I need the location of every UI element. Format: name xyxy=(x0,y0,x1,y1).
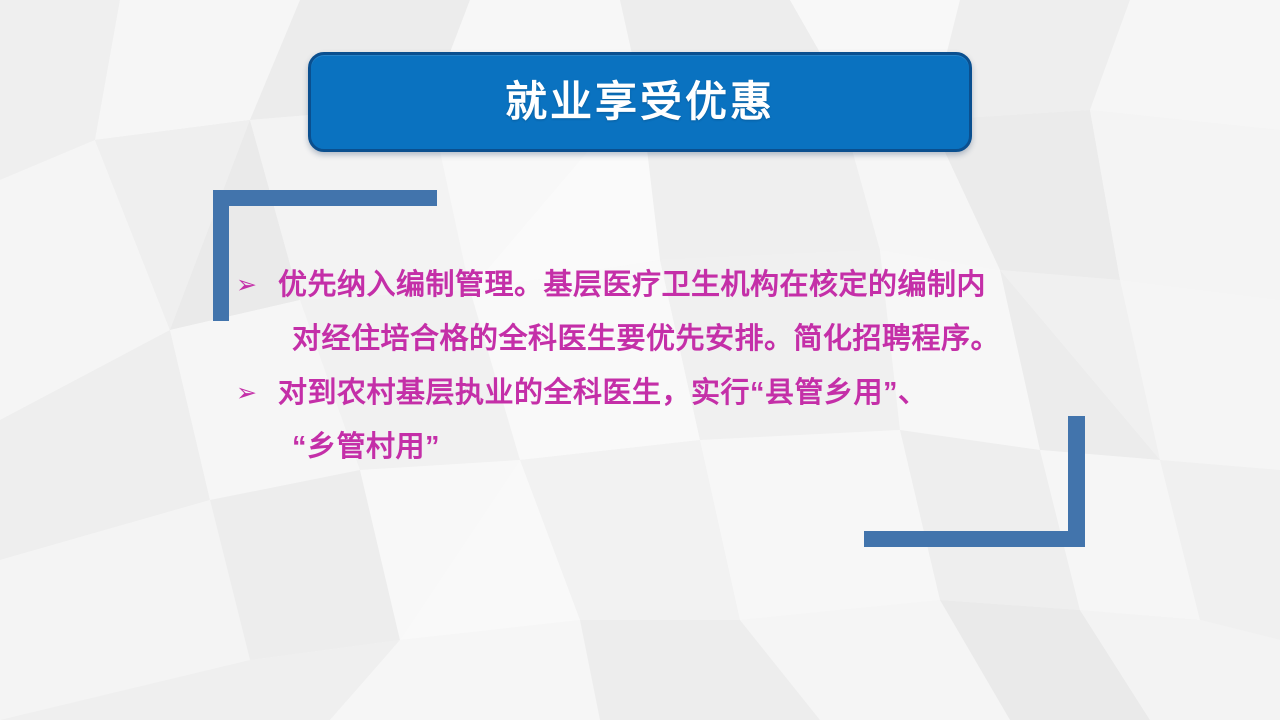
bullet-line: 优先纳入编制管理。基层医疗卫生机构在核定的编制内 xyxy=(278,269,986,301)
corner-bracket-top-left-horizontal xyxy=(213,190,437,206)
bullet-line: 对到农村基层执业的全科医生，实行“县管乡用”、 xyxy=(278,377,928,409)
bullet-item: ➢ 对到农村基层执业的全科医生，实行“县管乡用”、 “乡管村用” xyxy=(236,366,1086,474)
slide-body: ➢ 优先纳入编制管理。基层医疗卫生机构在核定的编制内 对经住培合格的全科医生要优… xyxy=(236,258,1086,474)
bullet-line: “乡管村用” xyxy=(278,420,1086,474)
bullet-text: 优先纳入编制管理。基层医疗卫生机构在核定的编制内 对经住培合格的全科医生要优先安… xyxy=(278,258,1086,366)
bullet-item: ➢ 优先纳入编制管理。基层医疗卫生机构在核定的编制内 对经住培合格的全科医生要优… xyxy=(236,258,1086,366)
slide-title-text: 就业享受优惠 xyxy=(505,81,775,123)
corner-bracket-top-left-vertical xyxy=(213,190,229,321)
arrow-bullet-icon: ➢ xyxy=(236,258,278,312)
bullet-text: 对到农村基层执业的全科医生，实行“县管乡用”、 “乡管村用” xyxy=(278,366,1086,474)
slide-canvas: 就业享受优惠 ➢ 优先纳入编制管理。基层医疗卫生机构在核定的编制内 对经住培合格… xyxy=(0,0,1280,720)
corner-bracket-bottom-right-horizontal xyxy=(864,531,1085,547)
slide-title-plate: 就业享受优惠 xyxy=(308,52,972,152)
bullet-line: 对经住培合格的全科医生要优先安排。简化招聘程序。 xyxy=(278,312,1086,366)
arrow-bullet-icon: ➢ xyxy=(236,366,278,420)
